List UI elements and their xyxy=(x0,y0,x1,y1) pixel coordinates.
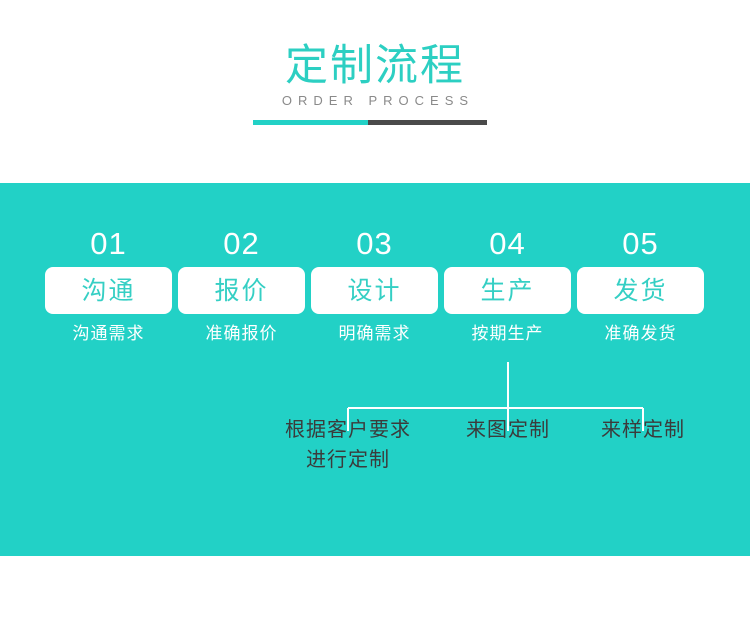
divider-dark-segment xyxy=(368,120,487,125)
step-caption: 沟通需求 xyxy=(73,323,145,345)
divider-accent-segment xyxy=(253,120,368,125)
step-caption: 准确发货 xyxy=(605,323,677,345)
process-panel: 01 沟通 沟通需求 02 报价 准确报价 03 设计 明确需求 04 生产 xyxy=(0,183,750,556)
process-step-02: 02 报价 准确报价 xyxy=(178,225,305,345)
process-step-03: 03 设计 明确需求 xyxy=(311,225,438,345)
bracket-caption-sample-custom: 来样定制 xyxy=(553,415,733,445)
step-box[interactable]: 沟通 xyxy=(45,267,172,314)
page-subtitle: ORDER PROCESS xyxy=(0,92,750,110)
step-box-label: 报价 xyxy=(214,276,268,306)
bracket-caption-line-2: 进行定制 xyxy=(228,445,468,475)
bracket-captions: 根据客户要求 进行定制 来图定制 来样定制 xyxy=(0,415,750,495)
step-box-label: 设计 xyxy=(347,276,401,306)
step-number: 02 xyxy=(223,225,259,263)
step-box-label: 沟通 xyxy=(81,276,135,306)
step-number: 04 xyxy=(489,225,525,263)
step-caption: 明确需求 xyxy=(339,323,411,345)
step-number: 01 xyxy=(90,225,126,263)
process-step-04: 04 生产 按期生产 xyxy=(444,225,571,345)
step-box[interactable]: 发货 xyxy=(577,267,704,314)
page-title: 定制流程 xyxy=(0,40,750,92)
process-step-01: 01 沟通 沟通需求 xyxy=(45,225,172,345)
step-box[interactable]: 生产 xyxy=(444,267,571,314)
step-box[interactable]: 设计 xyxy=(311,267,438,314)
step-number: 05 xyxy=(622,225,658,263)
step-box[interactable]: 报价 xyxy=(178,267,305,314)
process-steps-row: 01 沟通 沟通需求 02 报价 准确报价 03 设计 明确需求 04 生产 xyxy=(45,225,705,345)
step-caption: 按期生产 xyxy=(472,323,544,345)
header-divider xyxy=(253,120,487,125)
page-header: 定制流程 ORDER PROCESS xyxy=(0,0,750,183)
step-caption: 准确报价 xyxy=(206,323,278,345)
step-box-label: 发货 xyxy=(613,276,667,306)
step-number: 03 xyxy=(356,225,392,263)
process-step-05: 05 发货 准确发货 xyxy=(577,225,704,345)
step-box-label: 生产 xyxy=(480,276,534,306)
